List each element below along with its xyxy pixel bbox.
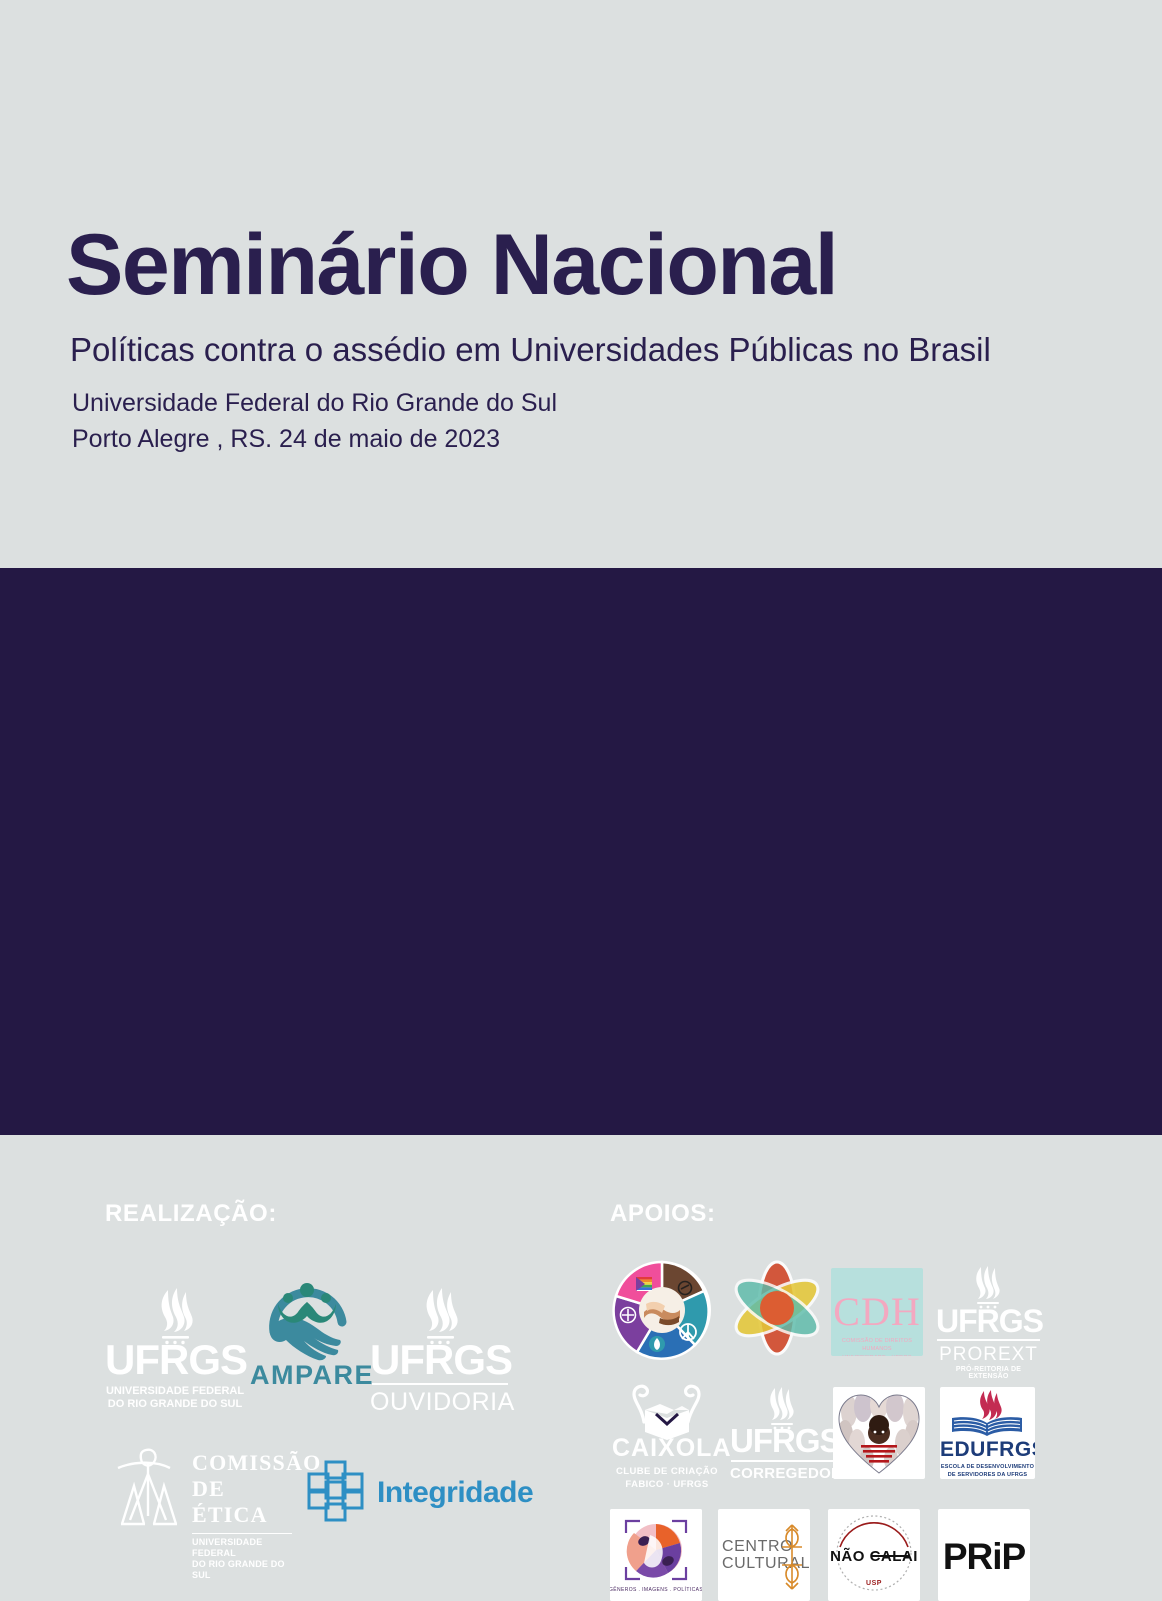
edufrgs-wordmark: EDUFRGS bbox=[940, 1439, 1035, 1460]
nao-calai-usp-label: USP bbox=[828, 1580, 920, 1587]
ufrgs-wordmark: UFRGS bbox=[105, 1339, 245, 1381]
comissao-de-etica-figure-icon bbox=[108, 1440, 188, 1532]
poster-root: Seminário Nacional Políticas contra o as… bbox=[0, 0, 1162, 1135]
logo-nao-calai: NÃO CALAI USP bbox=[828, 1509, 920, 1601]
logo-ampare: AMPARE bbox=[250, 1260, 365, 1390]
comissao-line-1: COMISSÃO bbox=[192, 1450, 293, 1476]
logo-coracao-mulheres bbox=[833, 1387, 925, 1479]
logo-cdh: CDH COMISSÃO DE DIREITOS HUMANOS UNIVERS… bbox=[831, 1268, 923, 1356]
cdh-wordmark: CDH bbox=[831, 1292, 923, 1332]
ufrgs-ouvidoria-divider bbox=[372, 1383, 508, 1385]
ufrgs-corregedoria-sub: CORREGEDORIA bbox=[730, 1465, 835, 1482]
edufrgs-sub-line-2: DE SERVIDORES DA UFRGS bbox=[940, 1472, 1035, 1479]
generos-imagens-politicas-icon: GÊNEROS . IMAGENS . POLÍTICAS bbox=[610, 1509, 702, 1601]
prip-wordmark: PRiP bbox=[938, 1536, 1030, 1578]
cdh-sub-line-2: UNIVERSIDADE - UFRGS bbox=[831, 1354, 923, 1357]
comissao-de-etica-text: COMISSÃO DE ÉTICA UNIVERSIDADE FEDERAL D… bbox=[192, 1450, 293, 1581]
caixola-sub-line-1: CLUBE DE CRIAÇÃO bbox=[612, 1466, 722, 1479]
ufrgs-prorext-wordmark: UFRGS bbox=[936, 1305, 1041, 1337]
nao-calai-strikethrough bbox=[872, 1555, 910, 1557]
page-subtitle: Políticas contra o assédio em Universida… bbox=[70, 331, 991, 369]
footer-panel: REALIZAÇÃO: APOIOS: UFRGS UNIVERSIDADE F… bbox=[0, 568, 1162, 1135]
logo-integridade: Integridade bbox=[305, 1460, 510, 1522]
integridade-blocks-icon bbox=[305, 1460, 367, 1522]
ufrgs-corregedoria-wordmark: UFRGS bbox=[730, 1424, 835, 1457]
comissao-line-2: DE ÉTICA bbox=[192, 1476, 293, 1528]
logo-edufrgs: EDUFRGS ESCOLA DE DESENVOLVIMENTO DE SER… bbox=[940, 1387, 1035, 1479]
gip-caption: GÊNEROS . IMAGENS . POLÍTICAS bbox=[610, 1585, 702, 1593]
ufrgs-prorext-sub-line-1: PROREXT bbox=[936, 1344, 1041, 1366]
logo-caixola: CAIXOLA CLUBE DE CRIAÇÃO FABICO · UFRGS bbox=[612, 1380, 722, 1480]
diversity-circle-icon bbox=[612, 1260, 712, 1360]
atom-flower-icon bbox=[727, 1258, 827, 1358]
logo-generos-imagens-politicas: GÊNEROS . IMAGENS . POLÍTICAS bbox=[610, 1509, 702, 1601]
cdh-sub-line-1: COMISSÃO DE DIREITOS HUMANOS bbox=[831, 1337, 923, 1354]
ampare-hand-icon bbox=[250, 1260, 365, 1365]
comissao-divider bbox=[192, 1533, 292, 1535]
logo-ufrgs: UFRGS UNIVERSIDADE FEDERAL DO RIO GRANDE… bbox=[105, 1284, 245, 1389]
edufrgs-sub-line-1: ESCOLA DE DESENVOLVIMENTO bbox=[940, 1464, 1035, 1472]
centro-cultural-ornament-icon bbox=[778, 1521, 806, 1593]
venue-block: Universidade Federal do Rio Grande do Su… bbox=[72, 386, 557, 457]
apoios-label: APOIOS: bbox=[610, 1200, 716, 1228]
logo-ufrgs-ouvidoria: UFRGS OUVIDORIA bbox=[370, 1284, 510, 1389]
ufrgs-ouvidoria-wordmark: UFRGS bbox=[370, 1339, 510, 1381]
logo-ufrgs-corregedoria: UFRGS CORREGEDORIA bbox=[730, 1386, 835, 1476]
logo-prip: PRiP bbox=[938, 1509, 1030, 1601]
logo-diversidade-circulo bbox=[612, 1260, 712, 1360]
ufrgs-prorext-sub-line-2: PRÓ-REITORIA DE EXTENSÃO bbox=[936, 1366, 1041, 1380]
ufrgs-sub-line-2: DO RIO GRANDE DO SUL bbox=[105, 1398, 245, 1411]
ufrgs-sub-line-1: UNIVERSIDADE FEDERAL bbox=[105, 1385, 245, 1398]
ampare-wordmark: AMPARE bbox=[250, 1360, 365, 1391]
centro-cultural-line-2: CULTURAL bbox=[722, 1556, 780, 1573]
page-title: Seminário Nacional bbox=[66, 222, 837, 308]
comissao-sub-line-1: UNIVERSIDADE FEDERAL bbox=[192, 1537, 293, 1559]
logo-centro-cultural: CENTRO CULTURAL bbox=[718, 1509, 810, 1601]
venue-line-2: Porto Alegre , RS. 24 de maio de 2023 bbox=[72, 422, 557, 458]
logo-comissao-de-etica: COMISSÃO DE ÉTICA UNIVERSIDADE FEDERAL D… bbox=[108, 1440, 293, 1532]
ufrgs-corregedoria-divider bbox=[731, 1460, 834, 1462]
integridade-wordmark: Integridade bbox=[377, 1476, 533, 1510]
centro-cultural-line-1: CENTRO bbox=[722, 1539, 780, 1556]
realizacao-label: REALIZAÇÃO: bbox=[105, 1200, 277, 1228]
heart-of-people-icon bbox=[833, 1387, 925, 1479]
header-panel: Seminário Nacional Políticas contra o as… bbox=[0, 0, 1162, 568]
edufrgs-book-icon bbox=[940, 1387, 1035, 1439]
ufrgs-prorext-divider bbox=[937, 1339, 1040, 1341]
caixola-box-icon bbox=[612, 1380, 722, 1442]
logo-atomo-colorido bbox=[727, 1258, 827, 1358]
venue-line-1: Universidade Federal do Rio Grande do Su… bbox=[72, 386, 557, 422]
caixola-sub-line-2: FABICO · UFRGS bbox=[612, 1479, 722, 1492]
logo-ufrgs-prorext: UFRGS PROREXT PRÓ-REITORIA DE EXTENSÃO bbox=[936, 1265, 1041, 1360]
caixola-wordmark: CAIXOLA bbox=[612, 1436, 722, 1461]
ufrgs-ouvidoria-sub: OUVIDORIA bbox=[370, 1388, 510, 1417]
comissao-sub-line-2: DO RIO GRANDE DO SUL bbox=[192, 1559, 293, 1581]
